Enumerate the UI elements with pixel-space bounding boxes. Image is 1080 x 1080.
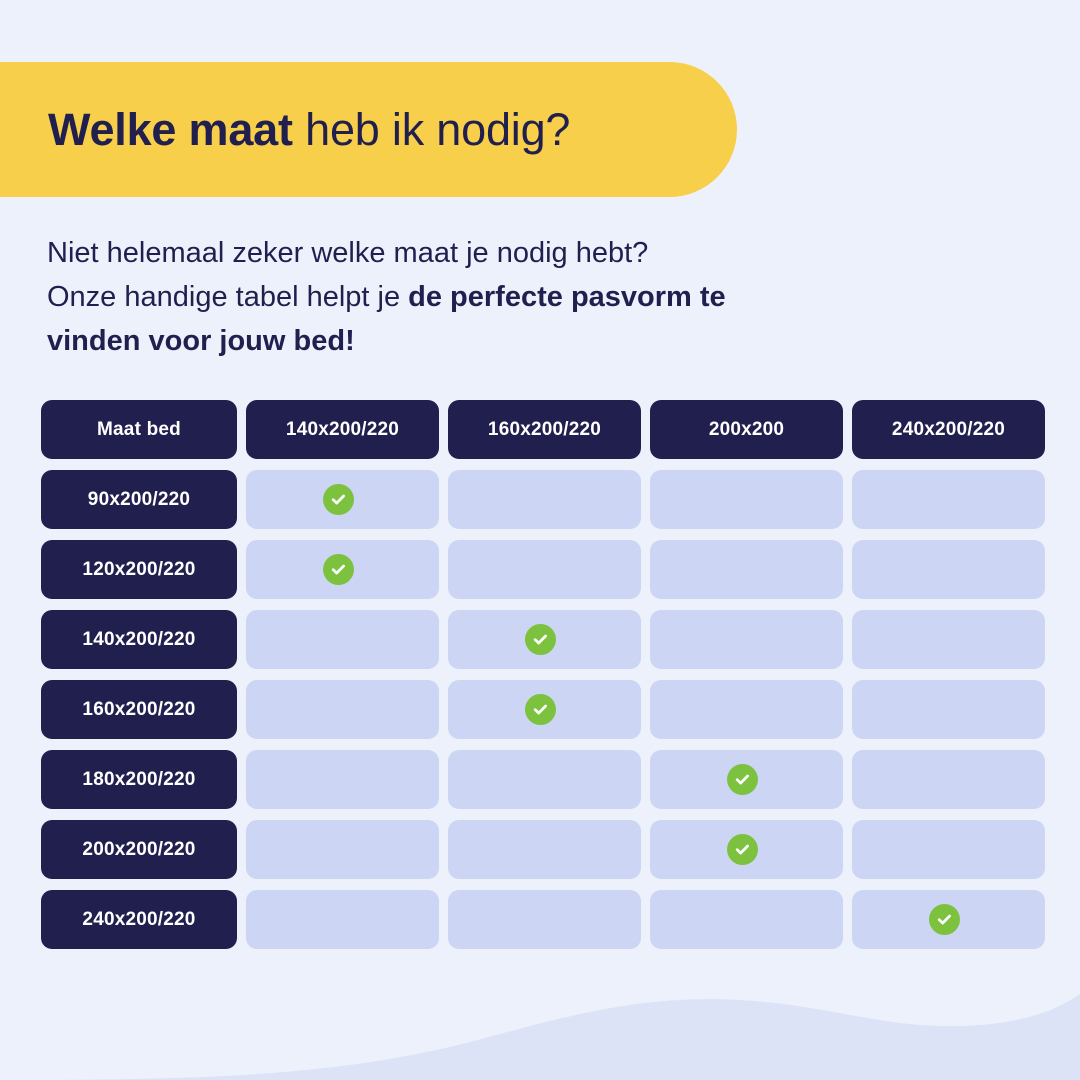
row-label-cell: 160x200/220	[41, 680, 237, 739]
size-comparison-table: Maat bed 140x200/220 160x200/220 200x200…	[41, 400, 1039, 949]
table-data-cell	[448, 610, 641, 669]
check-circle-icon	[727, 764, 758, 795]
table-header-label: 140x200/220	[286, 419, 399, 441]
table-data-cell	[852, 470, 1045, 529]
row-label-text: 200x200/220	[82, 839, 195, 861]
row-label-cell: 180x200/220	[41, 750, 237, 809]
intro-line-2-bold: de perfecte pasvorm te	[408, 281, 726, 313]
table-row: 180x200/220	[41, 750, 1039, 809]
check-circle-icon	[525, 694, 556, 725]
table-row: 240x200/220	[41, 890, 1039, 949]
row-label-text: 240x200/220	[82, 909, 195, 931]
table-header-label: 200x200	[709, 419, 784, 441]
intro-line-2-regular: Onze handige tabel helpt je	[47, 281, 408, 313]
table-data-cell	[246, 890, 439, 949]
check-circle-icon	[323, 554, 354, 585]
table-header-label: 240x200/220	[892, 419, 1005, 441]
page-title-regular: heb ik nodig?	[293, 104, 570, 155]
row-label-cell: 90x200/220	[41, 470, 237, 529]
wave-shape	[0, 960, 1080, 1080]
row-label-cell: 240x200/220	[41, 890, 237, 949]
row-label-text: 90x200/220	[88, 489, 190, 511]
intro-line-1: Niet helemaal zeker welke maat je nodig …	[47, 237, 648, 269]
table-row: 200x200/220	[41, 820, 1039, 879]
table-data-cell	[448, 540, 641, 599]
table-data-cell	[852, 610, 1045, 669]
table-data-cell	[246, 610, 439, 669]
table-data-cell	[650, 890, 843, 949]
table-header-cell-200x200: 200x200	[650, 400, 843, 459]
table-header-cell-140x200: 140x200/220	[246, 400, 439, 459]
table-data-cell	[852, 540, 1045, 599]
table-header-label: Maat bed	[97, 419, 181, 441]
table-data-cell	[852, 890, 1045, 949]
row-label-cell: 200x200/220	[41, 820, 237, 879]
row-label-text: 160x200/220	[82, 699, 195, 721]
table-data-cell	[246, 750, 439, 809]
table-row: 120x200/220	[41, 540, 1039, 599]
row-label-text: 140x200/220	[82, 629, 195, 651]
check-circle-icon	[727, 834, 758, 865]
row-label-text: 180x200/220	[82, 769, 195, 791]
row-label-cell: 120x200/220	[41, 540, 237, 599]
check-circle-icon	[929, 904, 960, 935]
table-data-cell	[246, 470, 439, 529]
table-data-cell	[448, 680, 641, 739]
row-label-cell: 140x200/220	[41, 610, 237, 669]
intro-line-3-bold: vinden voor jouw bed!	[47, 325, 355, 357]
table-row: 160x200/220	[41, 680, 1039, 739]
page-title-bold: Welke maat	[48, 104, 293, 155]
table-data-cell	[448, 890, 641, 949]
title-banner: Welke maat heb ik nodig?	[0, 62, 737, 197]
row-label-text: 120x200/220	[82, 559, 195, 581]
table-data-cell	[448, 750, 641, 809]
check-circle-icon	[525, 624, 556, 655]
bottom-wave-decoration	[0, 960, 1080, 1080]
table-header-cell-160x200: 160x200/220	[448, 400, 641, 459]
table-data-cell	[246, 540, 439, 599]
intro-paragraph: Niet helemaal zeker welke maat je nodig …	[47, 232, 947, 363]
check-circle-icon	[323, 484, 354, 515]
table-data-cell	[448, 470, 641, 529]
table-header-label: 160x200/220	[488, 419, 601, 441]
table-header-cell-240x200: 240x200/220	[852, 400, 1045, 459]
table-data-cell	[650, 750, 843, 809]
table-data-cell	[650, 540, 843, 599]
table-row: 140x200/220	[41, 610, 1039, 669]
table-header-cell-maat-bed: Maat bed	[41, 400, 237, 459]
table-header-row: Maat bed 140x200/220 160x200/220 200x200…	[41, 400, 1039, 459]
table-data-cell	[246, 680, 439, 739]
table-data-cell	[650, 680, 843, 739]
table-body: 90x200/220120x200/220140x200/220160x200/…	[41, 470, 1039, 949]
table-data-cell	[852, 750, 1045, 809]
page-title: Welke maat heb ik nodig?	[48, 107, 570, 152]
table-data-cell	[448, 820, 641, 879]
table-data-cell	[650, 610, 843, 669]
table-data-cell	[852, 680, 1045, 739]
table-data-cell	[246, 820, 439, 879]
table-row: 90x200/220	[41, 470, 1039, 529]
table-data-cell	[852, 820, 1045, 879]
table-data-cell	[650, 470, 843, 529]
table-data-cell	[650, 820, 843, 879]
